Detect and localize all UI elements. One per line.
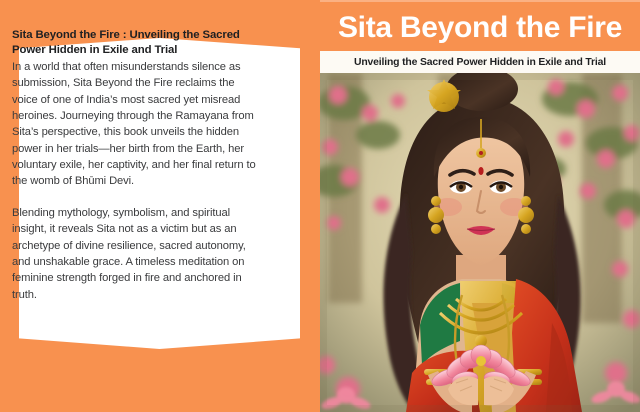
blurb-content: Sita Beyond the Fire : Unveiling the Sac… [12, 28, 262, 303]
page-subtitle: Unveiling the Sacred Power Hidden in Exi… [320, 51, 640, 73]
page-title: Sita Beyond the Fire [320, 2, 640, 51]
blurb-paragraph-2: Blending mythology, symbolism, and spiri… [12, 205, 262, 303]
blurb-paragraph-1: In a world that often misunderstands sil… [12, 59, 262, 189]
title-band: Sita Beyond the Fire [320, 2, 640, 51]
blurb-heading: Sita Beyond the Fire : Unveiling the Sac… [12, 28, 262, 57]
subtitle-band: Unveiling the Sacred Power Hidden in Exi… [320, 51, 640, 73]
sita-illustration-artwork [320, 73, 640, 412]
right-panel: Sita Beyond the Fire Unveiling the Sacre… [320, 0, 640, 412]
sita-illustration [320, 73, 640, 412]
book-promo-poster: Sita Beyond the Fire : Unveiling the Sac… [0, 0, 640, 412]
left-panel: Sita Beyond the Fire : Unveiling the Sac… [0, 0, 320, 412]
